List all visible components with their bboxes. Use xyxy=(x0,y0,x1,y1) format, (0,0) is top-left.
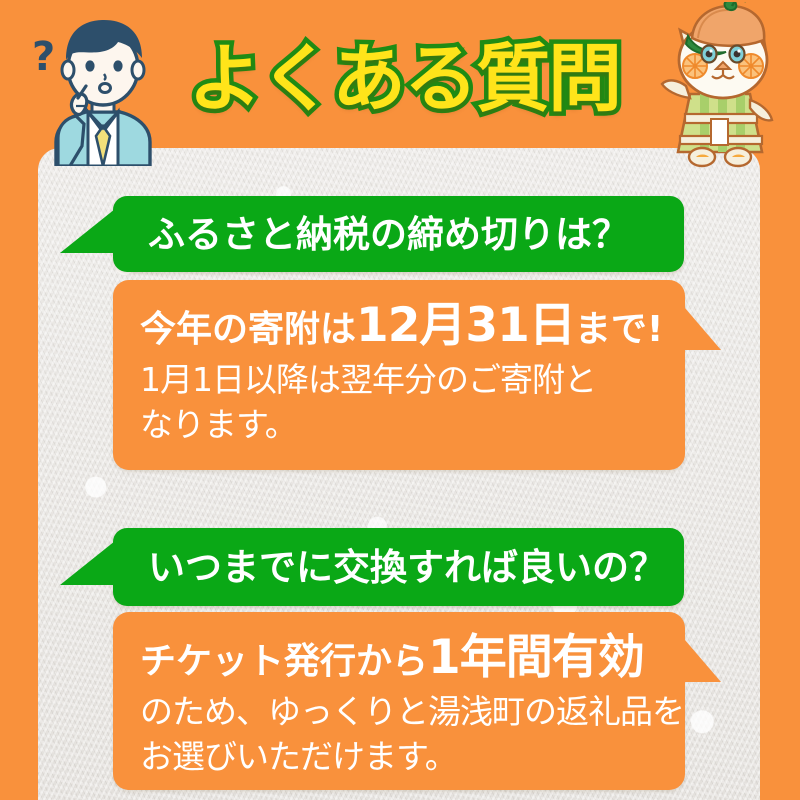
speech-tail-left-icon xyxy=(60,541,115,585)
faq-question-2[interactable]: いつまでに交換すれば良いの？ xyxy=(113,528,684,606)
faq-question-1-text: ふるさと納税の締め切りは？ xyxy=(113,216,629,253)
speech-tail-right-icon xyxy=(685,640,721,682)
faq-answer-2-body-line-2: お選びいただけます。 xyxy=(140,740,659,773)
thinking-businessman-illustration xyxy=(22,6,182,166)
faq-answer-2-lead-strong: 1年間有効 xyxy=(428,630,644,685)
faq-answer-2: チケット発行から1年間有効 のため、ゆっくりと湯浅町の返礼品を お選びいただけま… xyxy=(113,612,685,790)
faq-question-2-text: いつまでに交換すれば良いの？ xyxy=(113,549,666,586)
faq-answer-1-body-line-2: なります。 xyxy=(140,408,659,441)
faq-answer-2-lead: チケット発行から1年間有効 xyxy=(140,634,659,681)
faq-answer-2-lead-prefix: チケット発行から xyxy=(140,641,428,682)
faq-banner: ? xyxy=(0,0,800,800)
speech-tail-left-icon xyxy=(60,209,115,253)
faq-answer-1-lead-suffix: まで! xyxy=(575,309,663,350)
faq-answer-1-lead: 今年の寄附は12月31日まで! xyxy=(140,302,659,349)
page-title-text: よくある質問 xyxy=(188,42,620,116)
page-title: よくある質問 xyxy=(178,24,630,134)
faq-answer-1-lead-prefix: 今年の寄附は xyxy=(140,309,356,350)
faq-answer-2-body-line-1: のため、ゆっくりと湯浅町の返礼品を xyxy=(140,695,659,728)
faq-question-1[interactable]: ふるさと納税の締め切りは？ xyxy=(113,196,684,272)
faq-answer-1-content: 今年の寄附は12月31日まで! 1月1日以降は翌年分のご寄附と なります。 xyxy=(113,280,685,471)
question-mark-icon: ? xyxy=(32,34,55,80)
faq-answer-1: 今年の寄附は12月31日まで! 1月1日以降は翌年分のご寄附と なります。 xyxy=(113,280,685,470)
speech-tail-right-icon xyxy=(685,308,721,350)
faq-answer-1-body-line-1: 1月1日以降は翌年分のご寄附と xyxy=(140,363,659,396)
mikan-cat-mascot-illustration xyxy=(640,2,800,177)
faq-answer-1-lead-strong: 12月31日 xyxy=(356,298,575,353)
faq-answer-2-content: チケット発行から1年間有効 のため、ゆっくりと湯浅町の返礼品を お選びいただけま… xyxy=(113,612,685,800)
